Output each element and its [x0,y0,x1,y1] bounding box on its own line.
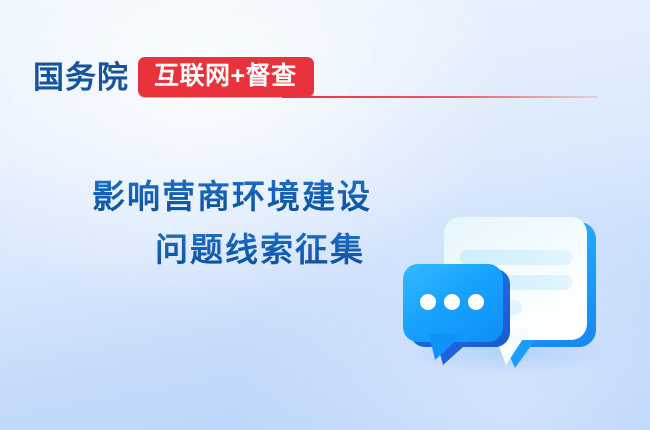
title-line-2: 问题线索征集 [92,223,422,276]
chat-bubble-tail-icon [429,334,463,360]
typing-dot-2-icon [444,294,460,310]
title-line-1: 影响营商环境建设 [92,170,422,223]
message-text-line-1 [460,250,572,265]
brand-badge: 互联网+督查 [138,57,314,97]
banner-title: 影响营商环境建设 问题线索征集 [92,170,422,276]
typing-dot-3-icon [468,294,484,310]
typing-dot-1-icon [420,294,436,310]
banner-header: 国务院 互联网+督查 [33,55,314,99]
header-divider-line [282,96,597,98]
brand-badge-label: 互联网+督查 [154,64,297,89]
speech-bubbles-illustration [398,212,613,392]
promo-banner: 国务院 互联网+督查 影响营商环境建设 问题线索征集 [0,0,650,430]
government-label: 国务院 [33,62,129,93]
